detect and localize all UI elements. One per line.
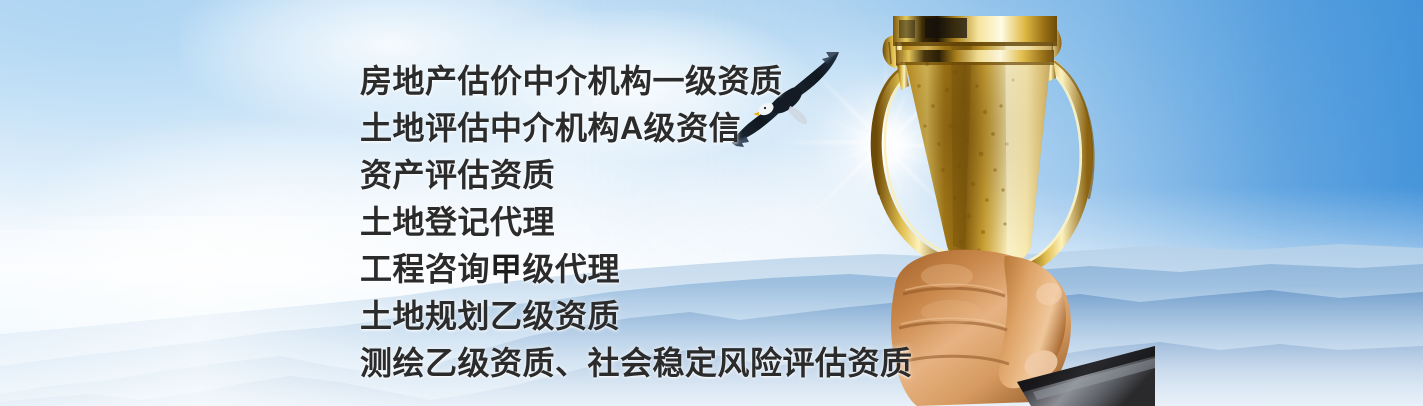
qualification-list: 房地产估价中介机构一级资质 土地评估中介机构A级资信 资产评估资质 土地登记代理… bbox=[360, 58, 913, 387]
headline-text: 土地评估中介机构A级资信 bbox=[360, 110, 741, 146]
list-item: 土地评估中介机构A级资信 bbox=[360, 105, 913, 152]
headline-text: 房地产估价中介机构一级资质 bbox=[360, 63, 783, 99]
list-item: 工程咨询甲级代理 bbox=[360, 246, 913, 293]
list-item: 房地产估价中介机构一级资质 bbox=[360, 58, 913, 105]
list-item: 测绘乙级资质、社会稳定风险评估资质 bbox=[360, 340, 913, 387]
list-item: 土地登记代理 bbox=[360, 199, 913, 246]
headline-text: 土地登记代理 bbox=[360, 204, 555, 240]
list-item: 土地规划乙级资质 bbox=[360, 293, 913, 340]
headline-emphasis: 甲 bbox=[490, 251, 523, 287]
list-item: 资产评估资质 bbox=[360, 152, 913, 199]
trophy-bowl bbox=[893, 16, 1057, 268]
headline-text: 工程咨询甲级代理 bbox=[360, 251, 620, 287]
headline-text: 测绘乙级资质、社会稳定风险评估资质 bbox=[360, 345, 913, 381]
trophy-rim bbox=[893, 16, 1057, 42]
headline-text: 资产评估资质 bbox=[360, 157, 555, 193]
promo-banner: 房地产估价中介机构一级资质 土地评估中介机构A级资信 资产评估资质 土地登记代理… bbox=[0, 0, 1423, 406]
headline-text: 土地规划乙级资质 bbox=[360, 298, 620, 334]
